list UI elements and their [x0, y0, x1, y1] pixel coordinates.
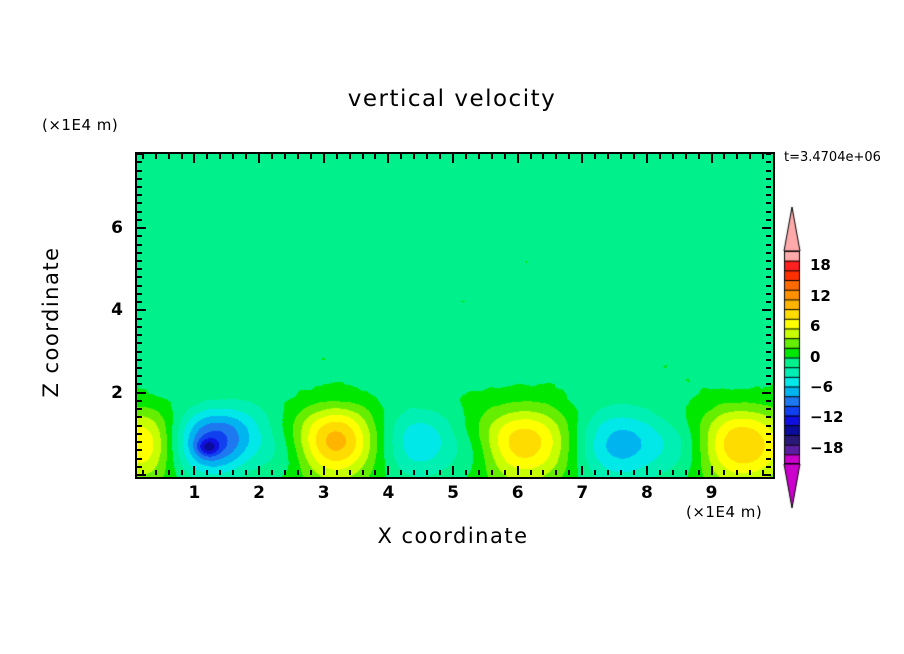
- y-axis-tick: [766, 301, 771, 303]
- x-axis-tick: [711, 154, 713, 163]
- x-axis-tick: [219, 154, 221, 159]
- y-axis-tick: [762, 474, 771, 476]
- y-axis-tick: [766, 326, 771, 328]
- y-axis-tick: [137, 334, 142, 336]
- x-axis-unit-label: (×1E4 m): [686, 503, 762, 521]
- x-tick-label: 1: [174, 483, 214, 503]
- x-axis-tick: [349, 470, 351, 475]
- y-tick-label: 2: [93, 383, 123, 403]
- y-axis-tick: [137, 433, 142, 435]
- y-axis-tick: [137, 425, 142, 427]
- x-axis-tick: [633, 154, 635, 159]
- x-axis-tick: [542, 154, 544, 159]
- x-axis-tick: [168, 154, 170, 159]
- y-axis-tick: [137, 458, 142, 460]
- x-axis-tick: [568, 154, 570, 159]
- y-axis-tick: [137, 252, 142, 254]
- y-axis-tick: [766, 342, 771, 344]
- y-axis-tick: [766, 202, 771, 204]
- x-axis-tick: [452, 466, 454, 475]
- y-axis-tick: [137, 309, 146, 311]
- y-axis-tick: [137, 293, 142, 295]
- y-axis-tick: [137, 276, 142, 278]
- y-axis-tick: [766, 458, 771, 460]
- x-axis-tick: [413, 154, 415, 159]
- x-axis-tick: [323, 154, 325, 163]
- y-axis-tick: [762, 227, 771, 229]
- x-axis-tick: [659, 154, 661, 159]
- x-axis-tick: [387, 466, 389, 475]
- y-axis-tick: [766, 244, 771, 246]
- y-tick-label: 6: [93, 218, 123, 238]
- y-axis-tick: [766, 367, 771, 369]
- x-axis-tick: [478, 470, 480, 475]
- x-axis-tick: [336, 470, 338, 475]
- colorbar-tick-label: 0: [810, 348, 820, 366]
- x-axis-tick: [323, 466, 325, 475]
- y-axis-tick: [137, 351, 142, 353]
- x-axis-tick: [168, 470, 170, 475]
- y-axis-tick: [766, 449, 771, 451]
- vertical-velocity-field: [137, 154, 773, 477]
- x-axis-tick: [698, 154, 700, 159]
- x-axis-tick: [297, 470, 299, 475]
- y-axis-tick: [137, 416, 142, 418]
- y-axis-tick: [766, 425, 771, 427]
- x-axis-tick: [219, 470, 221, 475]
- y-axis-tick: [137, 466, 142, 468]
- y-axis-tick: [766, 400, 771, 402]
- y-axis-tick: [137, 359, 142, 361]
- x-axis-tick: [465, 154, 467, 159]
- x-axis-tick: [349, 154, 351, 159]
- x-axis-tick: [723, 154, 725, 159]
- x-axis-tick: [258, 466, 260, 475]
- x-axis-tick: [297, 154, 299, 159]
- x-axis-tick: [749, 154, 751, 159]
- x-axis-tick: [736, 154, 738, 159]
- y-axis-tick: [137, 186, 142, 188]
- x-axis-tick: [517, 466, 519, 475]
- x-tick-label: 2: [239, 483, 279, 503]
- y-axis-tick: [766, 276, 771, 278]
- y-axis-tick: [137, 326, 142, 328]
- x-axis-tick: [181, 470, 183, 475]
- y-axis-tick: [137, 318, 142, 320]
- y-axis-tick: [137, 301, 142, 303]
- x-axis-tick: [413, 470, 415, 475]
- y-axis-tick: [766, 170, 771, 172]
- x-axis-tick: [685, 470, 687, 475]
- figure-title: vertical velocity: [0, 86, 904, 112]
- x-axis-tick: [672, 470, 674, 475]
- y-axis-tick: [137, 375, 142, 377]
- x-axis-tick: [504, 470, 506, 475]
- y-axis-tick: [766, 383, 771, 385]
- x-axis-tick: [336, 154, 338, 159]
- x-tick-label: 4: [368, 483, 408, 503]
- y-axis-tick: [766, 416, 771, 418]
- x-axis-tick: [723, 470, 725, 475]
- x-axis-tick: [426, 470, 428, 475]
- x-axis-tick: [245, 154, 247, 159]
- y-axis-title: Z coordinate: [39, 237, 63, 407]
- x-axis-tick: [193, 466, 195, 475]
- y-axis-tick: [137, 367, 142, 369]
- x-axis-tick: [206, 154, 208, 159]
- colorbar: [778, 205, 808, 510]
- x-tick-label: 3: [304, 483, 344, 503]
- x-axis-tick: [504, 154, 506, 159]
- x-axis-tick: [310, 470, 312, 475]
- x-axis-tick: [426, 154, 428, 159]
- x-axis-tick: [400, 154, 402, 159]
- x-axis-tick: [581, 466, 583, 475]
- y-axis-tick: [766, 252, 771, 254]
- x-axis-tick: [530, 470, 532, 475]
- y-axis-tick: [137, 227, 146, 229]
- x-axis-tick: [646, 466, 648, 475]
- x-axis-tick: [607, 154, 609, 159]
- x-axis-tick: [491, 470, 493, 475]
- y-axis-tick: [137, 268, 142, 270]
- x-axis-tick: [607, 470, 609, 475]
- y-axis-tick: [137, 285, 142, 287]
- x-axis-tick: [555, 154, 557, 159]
- y-axis-tick: [137, 161, 142, 163]
- x-tick-label: 6: [498, 483, 538, 503]
- x-axis-tick: [517, 154, 519, 163]
- colorbar-tick-label: −18: [810, 439, 843, 457]
- y-axis-tick: [137, 202, 142, 204]
- x-axis-tick: [478, 154, 480, 159]
- x-axis-tick: [685, 154, 687, 159]
- x-axis-tick: [762, 154, 764, 159]
- x-axis-tick: [581, 154, 583, 163]
- y-axis-tick: [137, 441, 142, 443]
- x-axis-tick: [530, 154, 532, 159]
- x-axis-tick: [439, 470, 441, 475]
- x-axis-tick: [594, 154, 596, 159]
- y-axis-tick: [766, 441, 771, 443]
- x-axis-tick: [193, 154, 195, 163]
- x-tick-label: 8: [627, 483, 667, 503]
- timestamp-annotation: t=3.4704e+06: [784, 150, 881, 165]
- y-axis-tick: [766, 334, 771, 336]
- x-axis-tick: [206, 470, 208, 475]
- x-axis-tick: [672, 154, 674, 159]
- y-axis-tick: [766, 186, 771, 188]
- x-axis-tick: [491, 154, 493, 159]
- y-axis-tick: [137, 342, 142, 344]
- x-axis-tick: [465, 470, 467, 475]
- y-axis-tick: [766, 359, 771, 361]
- y-axis-tick: [766, 211, 771, 213]
- x-axis-tick: [232, 154, 234, 159]
- x-axis-tick: [620, 470, 622, 475]
- y-axis-tick: [137, 449, 142, 451]
- y-axis-tick: [137, 194, 142, 196]
- x-tick-label: 9: [692, 483, 732, 503]
- x-axis-tick: [594, 470, 596, 475]
- colorbar-tick-label: 12: [810, 287, 831, 305]
- colorbar-tick-label: −12: [810, 408, 843, 426]
- x-axis-tick: [659, 470, 661, 475]
- x-axis-tick: [155, 470, 157, 475]
- y-axis-tick: [766, 293, 771, 295]
- y-axis-tick: [766, 375, 771, 377]
- colorbar-tick-label: 6: [810, 317, 820, 335]
- y-axis-tick: [766, 194, 771, 196]
- y-axis-tick: [137, 153, 142, 155]
- y-axis-tick: [137, 211, 142, 213]
- x-axis-tick: [620, 154, 622, 159]
- y-axis-tick: [766, 318, 771, 320]
- x-axis-title: X coordinate: [135, 524, 771, 548]
- y-axis-tick: [766, 351, 771, 353]
- y-axis-tick: [766, 466, 771, 468]
- x-axis-tick: [271, 470, 273, 475]
- x-tick-label: 5: [433, 483, 473, 503]
- x-axis-tick: [387, 154, 389, 163]
- x-axis-tick: [245, 470, 247, 475]
- x-axis-tick: [646, 154, 648, 163]
- y-axis-tick: [137, 244, 142, 246]
- colorbar-tick-label: 18: [810, 256, 831, 274]
- x-axis-tick: [310, 154, 312, 159]
- contour-plot-area: [135, 152, 775, 479]
- y-axis-tick: [766, 260, 771, 262]
- x-axis-tick: [439, 154, 441, 159]
- x-axis-tick: [155, 154, 157, 159]
- y-axis-tick: [137, 219, 142, 221]
- y-axis-tick: [766, 235, 771, 237]
- x-axis-tick: [284, 470, 286, 475]
- x-axis-tick: [258, 154, 260, 163]
- y-axis-tick: [137, 474, 146, 476]
- x-axis-tick: [142, 154, 144, 159]
- x-axis-tick: [698, 470, 700, 475]
- y-axis-tick: [766, 268, 771, 270]
- x-axis-tick: [633, 470, 635, 475]
- x-axis-tick: [284, 154, 286, 159]
- x-axis-tick: [271, 154, 273, 159]
- y-axis-tick: [137, 392, 146, 394]
- y-tick-label: 4: [93, 300, 123, 320]
- y-axis-tick: [137, 170, 142, 172]
- y-axis-tick: [766, 161, 771, 163]
- y-axis-tick: [137, 408, 142, 410]
- x-axis-tick: [362, 470, 364, 475]
- x-axis-tick: [452, 154, 454, 163]
- x-axis-tick: [711, 466, 713, 475]
- x-tick-label: 7: [562, 483, 602, 503]
- x-axis-tick: [400, 470, 402, 475]
- y-axis-unit-label: (×1E4 m): [42, 116, 118, 134]
- figure-canvas: vertical velocity (×1E4 m) (×1E4 m) t=3.…: [0, 0, 904, 654]
- y-axis-tick: [137, 178, 142, 180]
- y-axis-tick: [766, 219, 771, 221]
- x-axis-tick: [749, 470, 751, 475]
- x-axis-tick: [374, 154, 376, 159]
- x-axis-tick: [568, 470, 570, 475]
- x-axis-tick: [736, 470, 738, 475]
- y-axis-tick: [766, 433, 771, 435]
- x-axis-tick: [362, 154, 364, 159]
- y-axis-tick: [137, 383, 142, 385]
- y-axis-tick: [762, 309, 771, 311]
- y-axis-tick: [762, 392, 771, 394]
- y-axis-tick: [766, 153, 771, 155]
- y-axis-tick: [766, 178, 771, 180]
- y-axis-tick: [137, 400, 142, 402]
- y-axis-tick: [766, 285, 771, 287]
- y-axis-tick: [766, 408, 771, 410]
- x-axis-tick: [232, 470, 234, 475]
- x-axis-tick: [542, 470, 544, 475]
- colorbar-gradient: [778, 205, 808, 510]
- x-axis-tick: [181, 154, 183, 159]
- x-axis-tick: [555, 470, 557, 475]
- colorbar-tick-label: −6: [810, 378, 833, 396]
- y-axis-tick: [137, 235, 142, 237]
- x-axis-tick: [374, 470, 376, 475]
- y-axis-tick: [137, 260, 142, 262]
